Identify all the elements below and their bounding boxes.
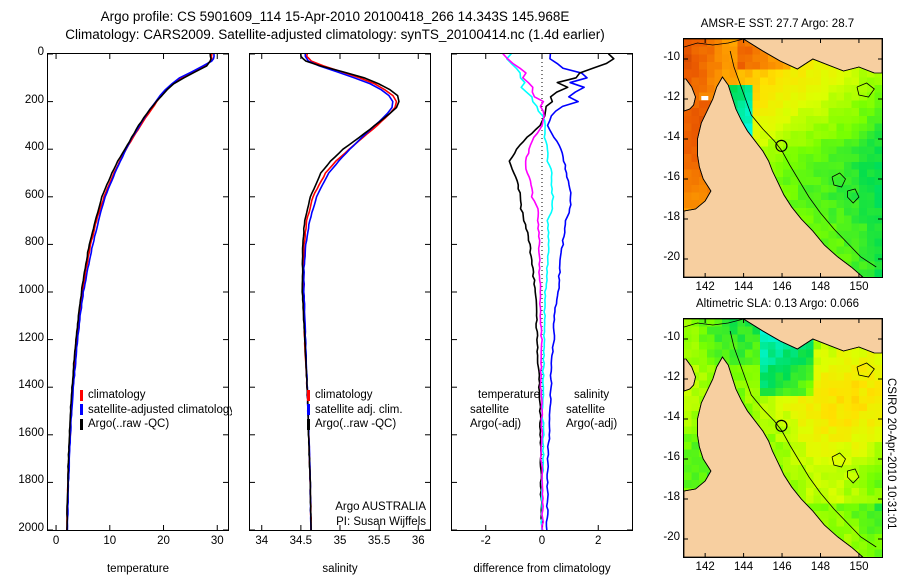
axis-tick-label: -14 (652, 131, 680, 143)
axis-tick-label: -16 (652, 451, 680, 463)
legend-entry: Argo(-adj) (566, 417, 617, 432)
legend-entry: satellite (566, 403, 617, 418)
legend-label: satellite adj. clim. (315, 403, 403, 418)
axis-tick-label: 1000 (2, 284, 44, 296)
axis-tick-label: -18 (652, 211, 680, 223)
axis-tick-label: 0 (517, 535, 567, 547)
figure-title-line1: Argo profile: CS 5901609_114 15-Apr-2010… (0, 8, 670, 26)
axis-tick-label: -10 (652, 331, 680, 343)
axis-tick-label: -20 (652, 531, 680, 543)
legend-entry: satellite-adjusted climatology (80, 403, 232, 418)
axis-tick-label: 1800 (2, 474, 44, 486)
salinity-legend: climatologysatellite adj. clim.Argo(..ra… (307, 388, 403, 432)
legend-color-swatch (80, 390, 83, 401)
axis-tick-label: -12 (652, 371, 680, 383)
legend-label: climatology (88, 388, 146, 403)
legend-color-swatch (307, 419, 310, 430)
axis-tick-label: 0 (2, 46, 44, 58)
legend-entry: climatology (80, 388, 232, 403)
legend-entry: climatology (307, 388, 403, 403)
axis-tick-label: -14 (652, 411, 680, 423)
legend-color-swatch (80, 419, 83, 430)
axis-tick-label: -12 (652, 91, 680, 103)
axis-tick-label: 30 (192, 535, 242, 547)
temperature-x-axis-label: temperature (47, 563, 229, 575)
axis-tick-label: 2000 (2, 522, 44, 534)
argo-credit: Argo AUSTRALIA PI: Susan Wijffels (281, 500, 426, 529)
axis-tick-label: 400 (2, 141, 44, 153)
axis-tick-label: 800 (2, 236, 44, 248)
axis-tick-label: 1600 (2, 427, 44, 439)
difference-legend: temperaturesatelliteArgo(-adj)salinitysa… (470, 388, 617, 432)
axis-tick-label: 0 (31, 535, 81, 547)
legend-entry: Argo(..raw -QC) (80, 417, 232, 432)
axis-tick-label: 1200 (2, 332, 44, 344)
axis-tick-label: -2 (461, 535, 511, 547)
legend-label: satellite (566, 404, 605, 416)
legend-label: satellite-adjusted climatology (88, 403, 232, 418)
legend-group: temperaturesatelliteArgo(-adj) (470, 388, 540, 432)
temperature-profile-panel (47, 53, 229, 531)
legend-entry: satellite (470, 403, 540, 418)
legend-color-swatch (80, 404, 83, 415)
legend-label: Argo(-adj) (566, 418, 617, 430)
legend-group: salinitysatelliteArgo(-adj) (566, 388, 617, 432)
legend-entry: Argo(..raw -QC) (307, 417, 403, 432)
axis-tick-label: 1400 (2, 379, 44, 391)
figure-title: Argo profile: CS 5901609_114 15-Apr-2010… (0, 8, 670, 44)
salinity-profile-panel (249, 53, 431, 531)
legend-group-header: salinity (574, 388, 617, 403)
legend-group-header: temperature (478, 388, 540, 403)
axis-tick-label: 20 (139, 535, 189, 547)
salinity-profile-plot (250, 54, 430, 530)
temperature-legend: climatologysatellite-adjusted climatolog… (80, 388, 232, 432)
axis-tick-label: 200 (2, 94, 44, 106)
sla-map-title: Altimetric SLA: 0.13 Argo: 0.066 (665, 298, 890, 310)
axis-tick-label: 150 (834, 281, 884, 293)
figure-title-line2: Climatology: CARS2009. Satellite-adjuste… (0, 26, 670, 44)
difference-x-axis-label: difference from climatology (451, 563, 633, 575)
axis-tick-label: 36 (393, 535, 443, 547)
legend-label: satellite (470, 404, 509, 416)
sla-map-panel (683, 318, 883, 558)
axis-tick-label: 10 (85, 535, 135, 547)
sla-map-image (684, 319, 882, 557)
axis-tick-label: -16 (652, 171, 680, 183)
axis-tick-label: -10 (652, 51, 680, 63)
axis-tick-label: 600 (2, 189, 44, 201)
legend-color-swatch (307, 404, 310, 415)
legend-entry: satellite adj. clim. (307, 403, 403, 418)
salinity-x-axis-label: salinity (249, 563, 431, 575)
legend-color-swatch (307, 390, 310, 401)
temperature-profile-plot (48, 54, 228, 530)
legend-label: Argo(..raw -QC) (88, 417, 169, 432)
difference-profile-panel (451, 53, 633, 531)
axis-tick-label: -18 (652, 491, 680, 503)
legend-label: climatology (315, 388, 373, 403)
axis-tick-label: -20 (652, 251, 680, 263)
axis-tick-label: 150 (834, 561, 884, 573)
csiro-timestamp: CSIRO 20-Apr-2010 10:31:01 (885, 378, 897, 530)
legend-label: Argo(..raw -QC) (315, 417, 396, 432)
axis-tick-label: 2 (573, 535, 623, 547)
sst-map-title: AMSR-E SST: 27.7 Argo: 28.7 (665, 18, 890, 30)
sst-map-panel (683, 38, 883, 278)
sst-map-image (684, 39, 882, 277)
legend-entry: Argo(-adj) (470, 417, 540, 432)
credit-line2: PI: Susan Wijffels (281, 515, 426, 530)
credit-line1: Argo AUSTRALIA (281, 500, 426, 515)
legend-label: Argo(-adj) (470, 418, 521, 430)
difference-profile-plot (452, 54, 632, 530)
